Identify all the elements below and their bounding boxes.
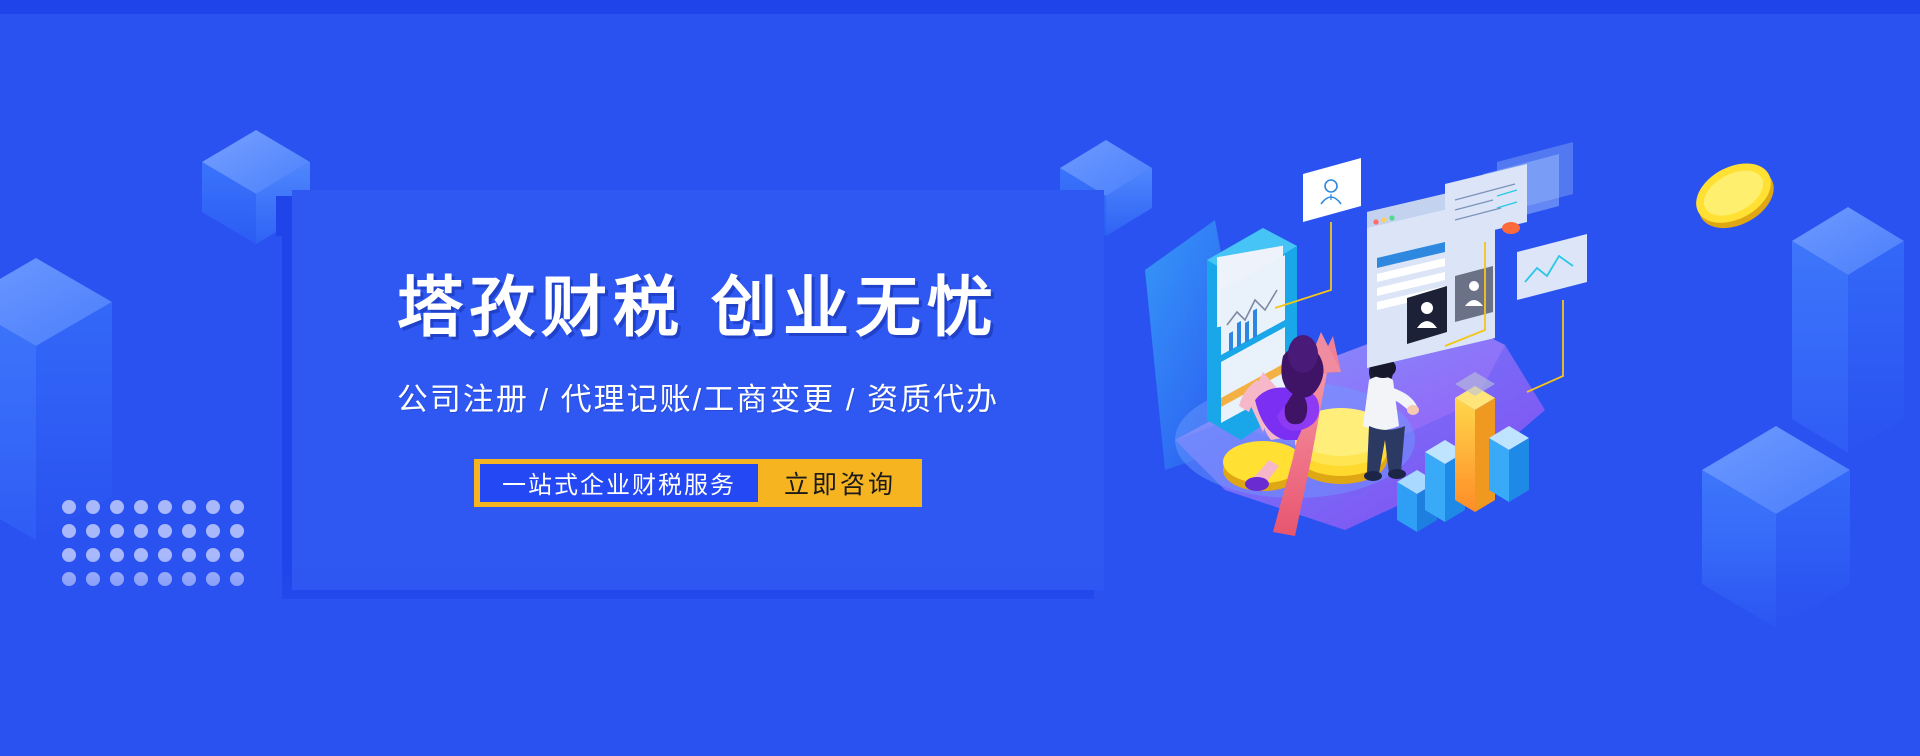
grid-dot — [230, 524, 244, 538]
grid-dot — [206, 500, 220, 514]
grid-dot — [110, 500, 124, 514]
grid-dot — [62, 524, 76, 538]
headline-part-1: 塔孜财税 — [397, 270, 685, 344]
cta-tagline: 一站式企业财税服务 — [480, 464, 758, 502]
isometric-illustration — [1145, 140, 1625, 540]
iso-pillar-left — [0, 240, 210, 540]
grid-dot — [182, 500, 196, 514]
service-list-subtitle: 公司注册 / 代理记账/工商变更 / 资质代办 — [397, 374, 999, 419]
gold-coin-top-right — [1690, 155, 1778, 233]
grid-dot — [158, 500, 172, 514]
cta-bar: 一站式企业财税服务 立即咨询 — [474, 459, 922, 507]
grid-dot — [182, 524, 196, 538]
headline-part-2: 创业无忧 — [711, 270, 999, 344]
grid-dot — [134, 500, 148, 514]
grid-dot — [86, 524, 100, 538]
grid-dot — [206, 524, 220, 538]
promotional-banner: 塔孜财税创业无忧 公司注册 / 代理记账/工商变更 / 资质代办 一站式企业财税… — [0, 0, 1920, 756]
banner-content: 塔孜财税创业无忧 公司注册 / 代理记账/工商变更 / 资质代办 一站式企业财税… — [292, 190, 1104, 590]
grid-dot — [62, 500, 76, 514]
page-title: 塔孜财税创业无忧 — [397, 274, 999, 340]
grid-dot — [86, 500, 100, 514]
background-bottom-fade — [0, 556, 1920, 756]
background-top-band — [0, 0, 1920, 14]
consult-now-button[interactable]: 立即咨询 — [758, 459, 922, 507]
grid-dot — [110, 524, 124, 538]
grid-dot — [230, 500, 244, 514]
grid-dot — [134, 524, 148, 538]
grid-dot — [158, 524, 172, 538]
